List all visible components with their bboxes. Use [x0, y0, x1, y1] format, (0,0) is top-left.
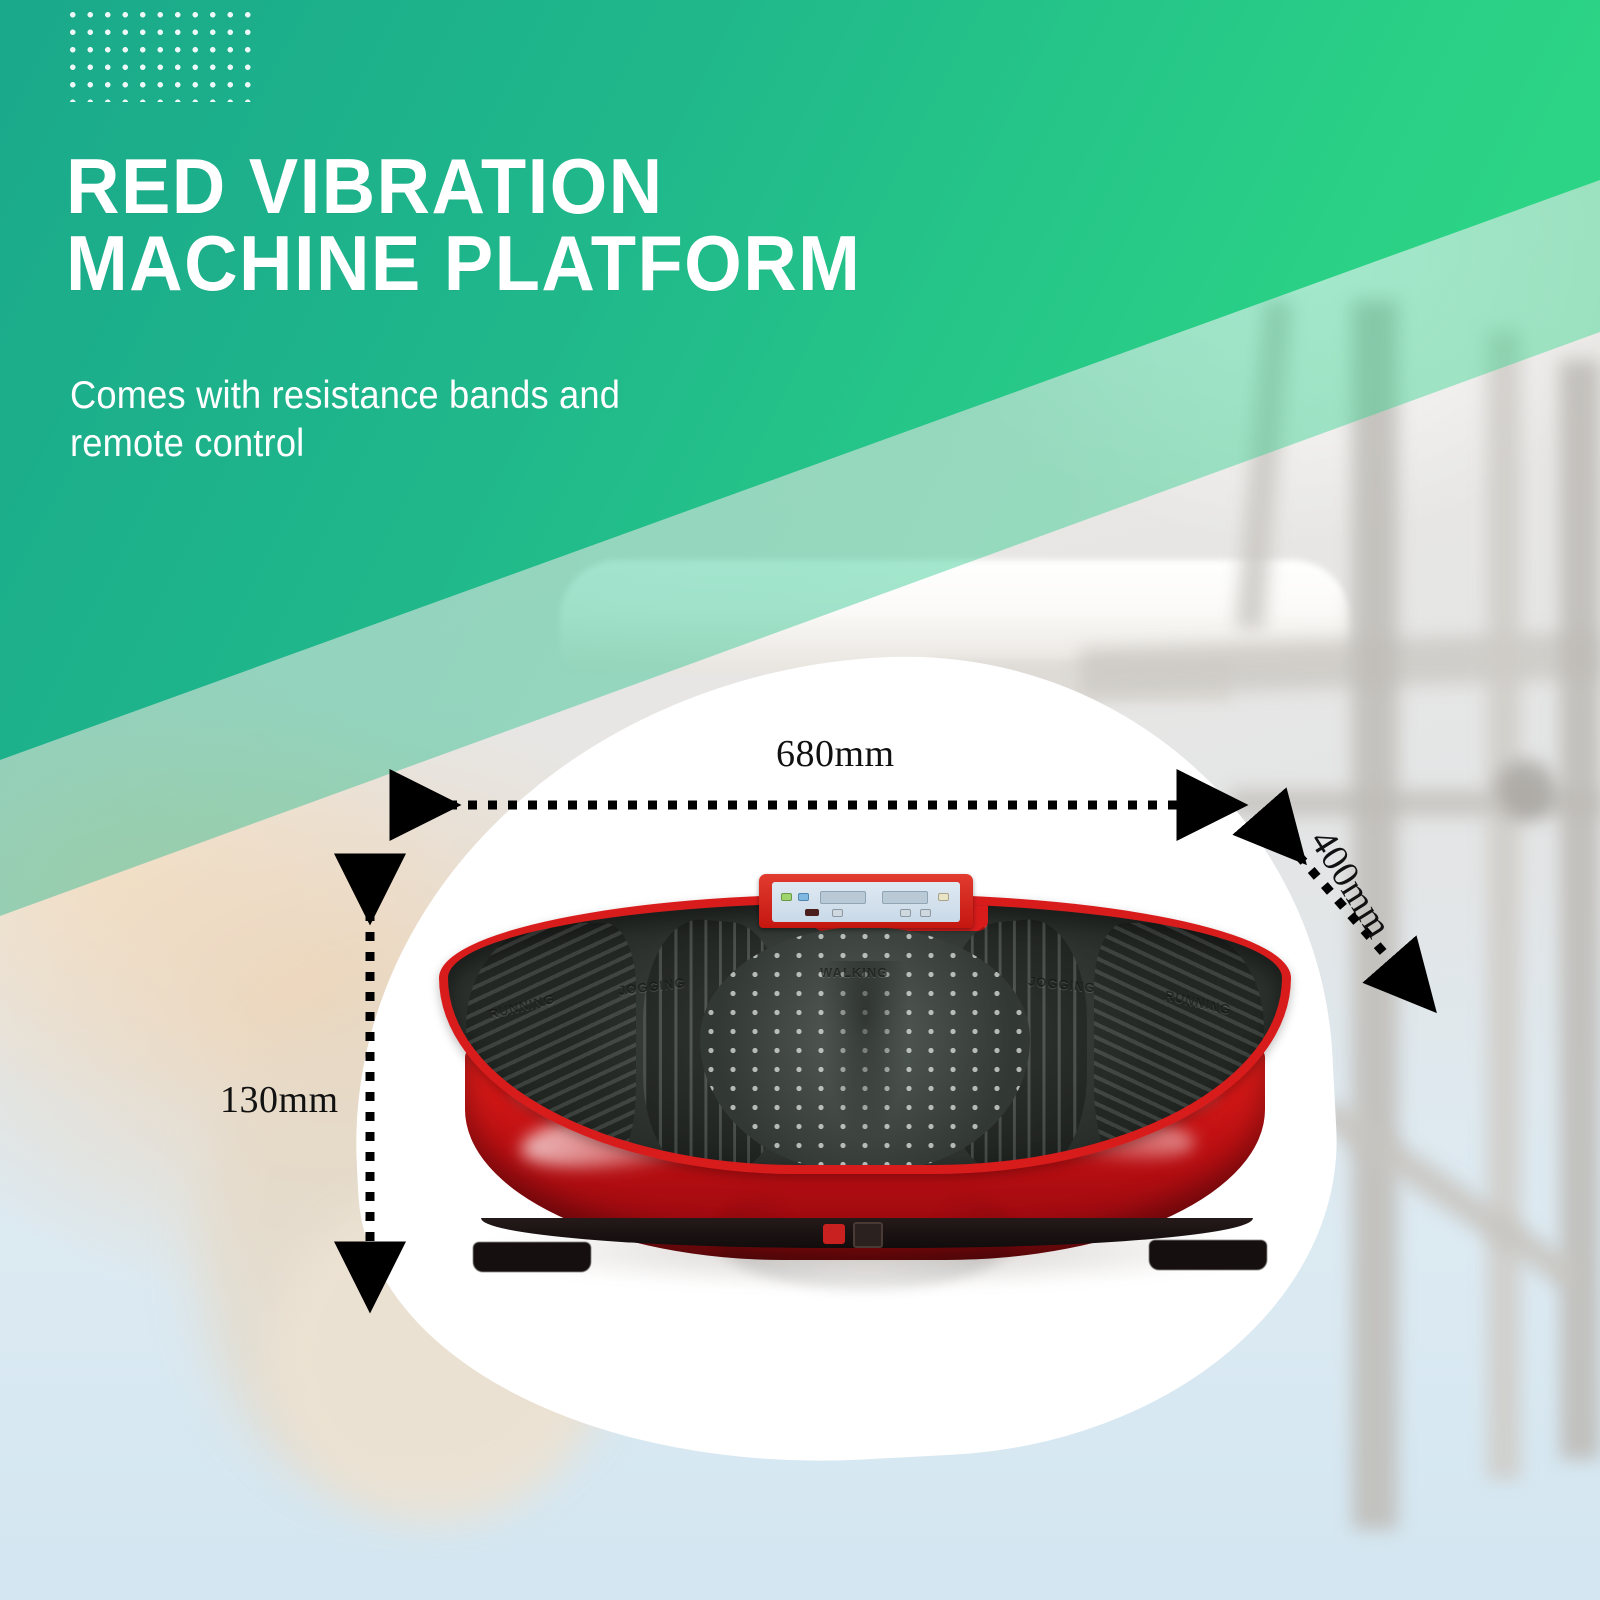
rig-post-right	[1560, 360, 1600, 1460]
panel-button-4	[832, 909, 843, 917]
page-subtitle: Comes with resistance bands and remote c…	[70, 372, 620, 467]
lcd-display-right	[882, 891, 928, 904]
product-tread-mat: RUNNING JOGGING WALKING JOGGING RUNNING	[439, 894, 1291, 1174]
control-panel	[759, 874, 973, 928]
dot-grid-decoration	[64, 6, 260, 102]
product-foot-left	[473, 1242, 591, 1272]
product-foot-right	[1149, 1240, 1267, 1270]
rig-post-mid	[1487, 330, 1521, 1480]
rig-adjustment-knob	[1496, 760, 1556, 820]
panel-button-2	[798, 893, 809, 901]
height-dimension-label: 130mm	[220, 1078, 339, 1122]
infographic-canvas: RED VIBRATION MACHINE PLATFORM Comes wit…	[0, 0, 1600, 1600]
power-socket-icon	[853, 1222, 883, 1248]
zone-label-walking: WALKING	[820, 965, 888, 980]
panel-indicator	[805, 909, 819, 916]
lcd-display-left	[820, 891, 866, 904]
control-panel-face	[772, 882, 960, 922]
panel-button-3	[938, 893, 949, 901]
panel-button-6	[920, 909, 931, 917]
panel-button-1	[781, 893, 792, 901]
panel-button-5	[900, 909, 911, 917]
power-switch-icon	[823, 1224, 845, 1244]
width-dimension-label: 680mm	[776, 732, 895, 776]
page-title: RED VIBRATION MACHINE PLATFORM	[66, 148, 861, 302]
product-image-vibration-platform: RUNNING JOGGING WALKING JOGGING RUNNING	[415, 880, 1315, 1320]
tread-massage-nubs	[700, 927, 1030, 1171]
